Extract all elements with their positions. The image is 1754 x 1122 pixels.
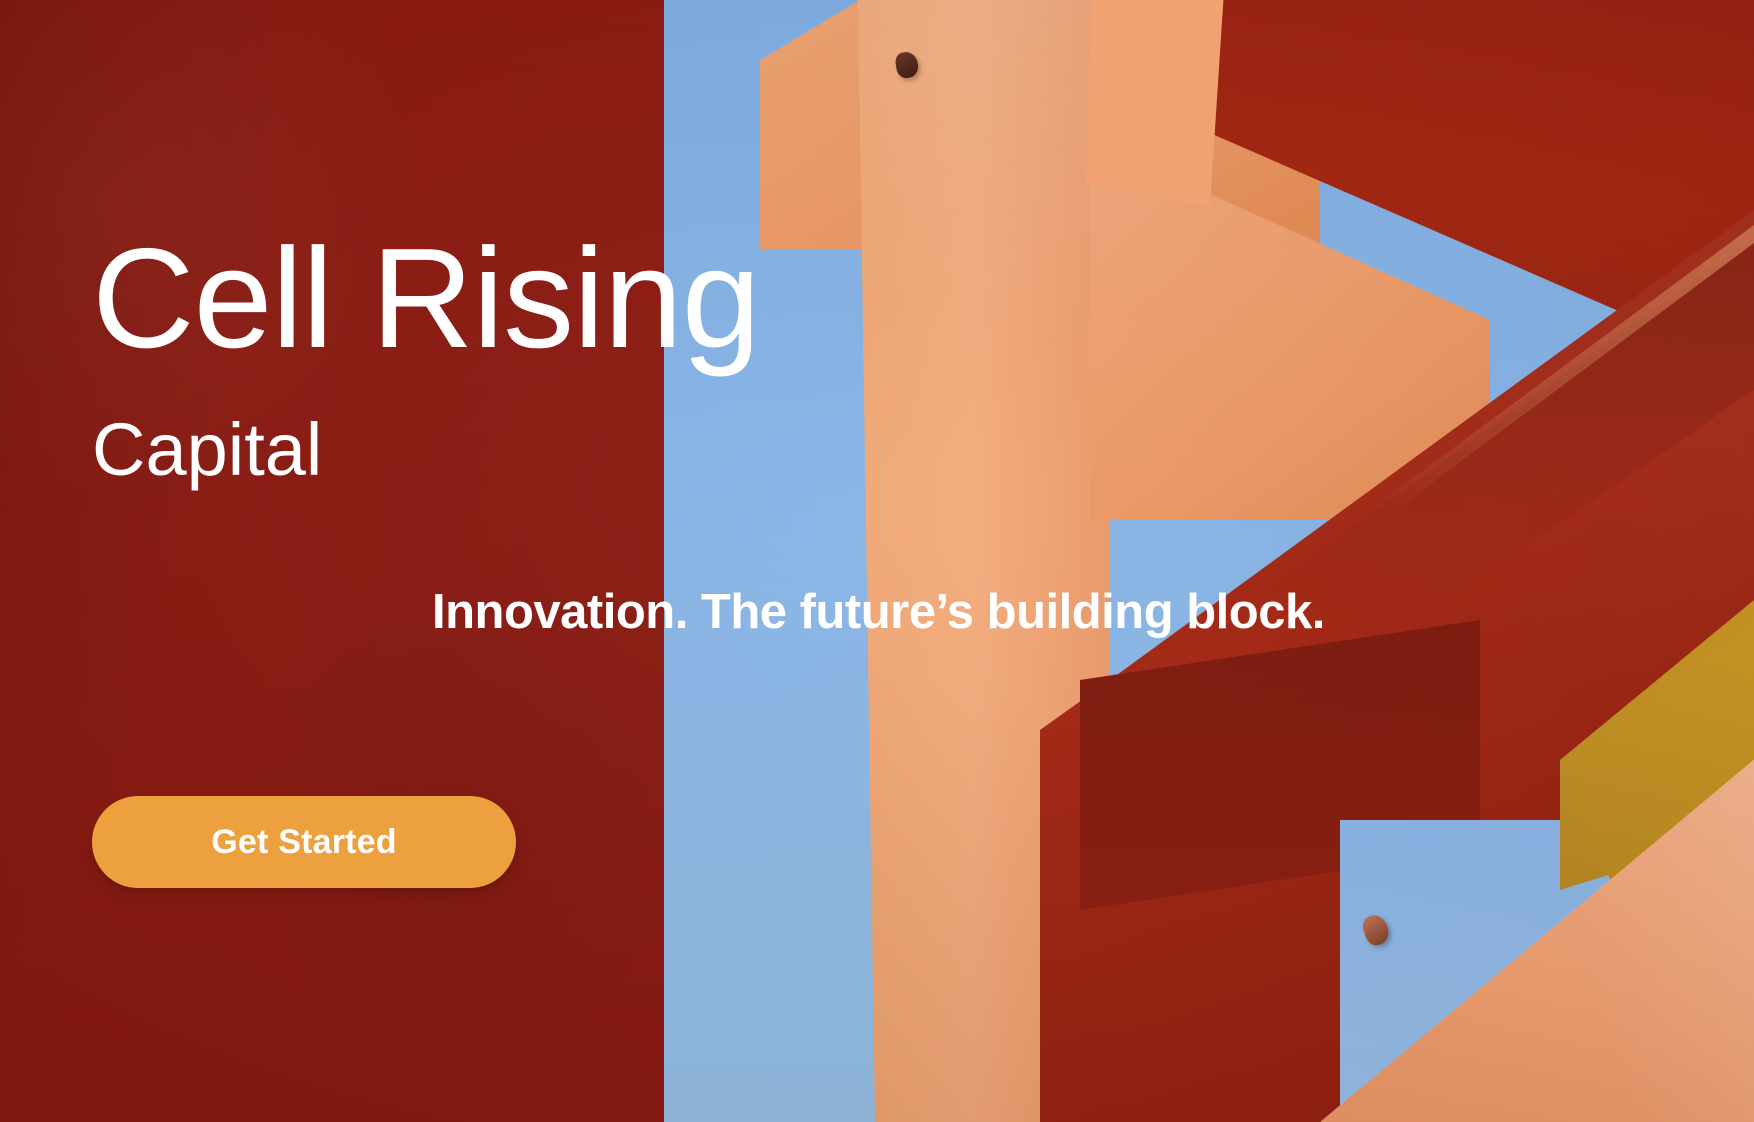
get-started-button[interactable]: Get Started xyxy=(92,796,516,888)
brand-subtitle: Capital xyxy=(92,413,322,487)
cta-container: Get Started xyxy=(92,796,516,888)
window-frame xyxy=(1086,0,1226,206)
hero-section: Cell Rising Capital Innovation. The futu… xyxy=(0,0,1754,1122)
hero-tagline: Innovation. The future’s building block. xyxy=(432,588,1325,637)
page-title: Cell Rising xyxy=(92,228,760,370)
hero-content: Cell Rising Capital Innovation. The futu… xyxy=(0,0,1754,1122)
